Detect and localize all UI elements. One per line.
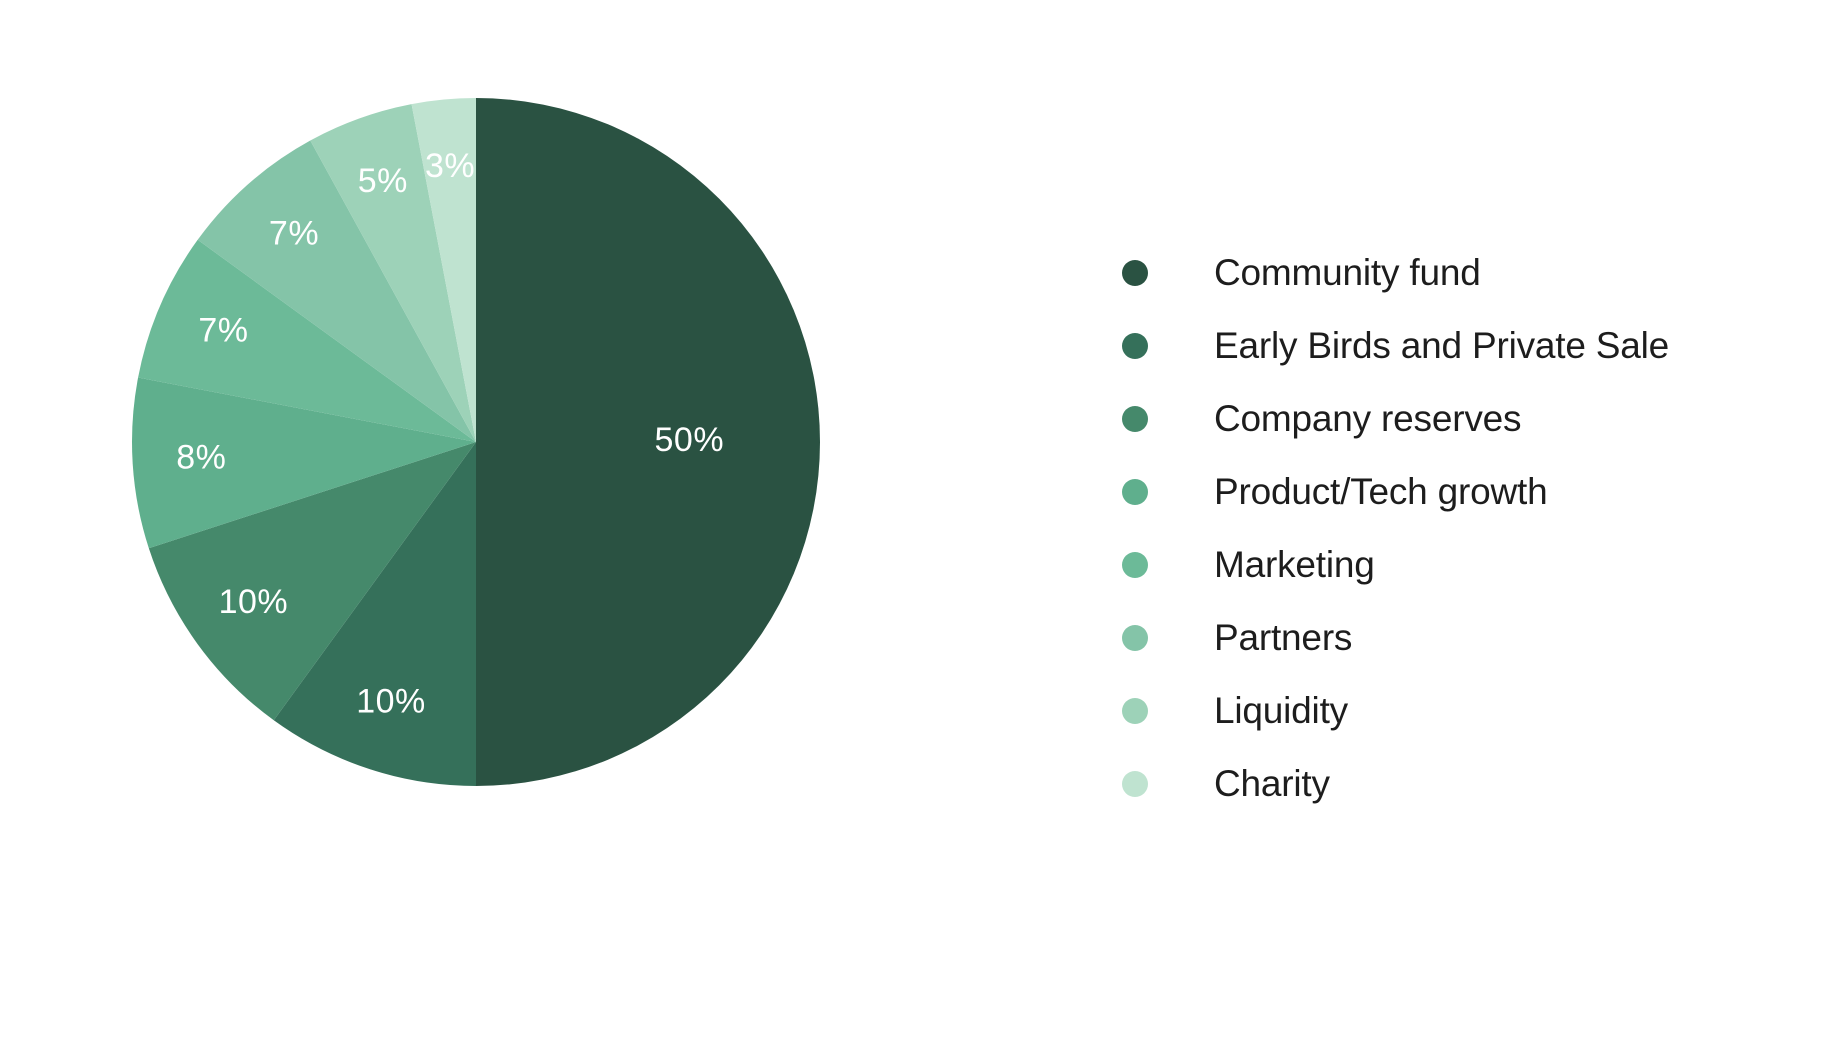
legend-item-label: Community fund bbox=[1214, 254, 1481, 291]
chart-legend: Community fundEarly Birds and Private Sa… bbox=[1122, 236, 1782, 820]
legend-item[interactable]: Liquidity bbox=[1122, 674, 1782, 747]
pie-slice-label: 8% bbox=[176, 438, 226, 476]
pie-chart-svg: 50%10%10%8%7%7%5%3% bbox=[132, 98, 820, 786]
legend-item[interactable]: Charity bbox=[1122, 747, 1782, 820]
legend-swatch-icon bbox=[1122, 771, 1148, 797]
legend-item-label: Early Birds and Private Sale bbox=[1214, 327, 1669, 364]
legend-item-label: Charity bbox=[1214, 765, 1330, 802]
chart-canvas: 50%10%10%8%7%7%5%3% Community fundEarly … bbox=[0, 0, 1840, 1040]
pie-slice-label: 10% bbox=[356, 683, 426, 721]
legend-item[interactable]: Community fund bbox=[1122, 236, 1782, 309]
legend-swatch-icon bbox=[1122, 698, 1148, 724]
legend-swatch-icon bbox=[1122, 552, 1148, 578]
legend-item[interactable]: Partners bbox=[1122, 601, 1782, 674]
pie-slice-label: 10% bbox=[219, 583, 289, 621]
legend-swatch-icon bbox=[1122, 479, 1148, 505]
legend-item-label: Partners bbox=[1214, 619, 1352, 656]
legend-swatch-icon bbox=[1122, 260, 1148, 286]
legend-item-label: Marketing bbox=[1214, 546, 1375, 583]
legend-item[interactable]: Product/Tech growth bbox=[1122, 455, 1782, 528]
legend-swatch-icon bbox=[1122, 625, 1148, 651]
legend-item[interactable]: Company reserves bbox=[1122, 382, 1782, 455]
pie-slice-label: 7% bbox=[198, 312, 248, 350]
legend-item-label: Company reserves bbox=[1214, 400, 1521, 437]
legend-swatch-icon bbox=[1122, 333, 1148, 359]
pie-slice-label: 7% bbox=[269, 215, 319, 253]
pie-chart: 50%10%10%8%7%7%5%3% bbox=[132, 98, 820, 786]
pie-slice-label: 3% bbox=[425, 147, 475, 185]
pie-slice-label: 5% bbox=[358, 162, 408, 200]
pie-slice-label: 50% bbox=[655, 421, 725, 459]
legend-item-label: Liquidity bbox=[1214, 692, 1348, 729]
legend-item-label: Product/Tech growth bbox=[1214, 473, 1547, 510]
legend-item[interactable]: Marketing bbox=[1122, 528, 1782, 601]
pie-slice bbox=[476, 98, 820, 786]
legend-item[interactable]: Early Birds and Private Sale bbox=[1122, 309, 1782, 382]
legend-swatch-icon bbox=[1122, 406, 1148, 432]
